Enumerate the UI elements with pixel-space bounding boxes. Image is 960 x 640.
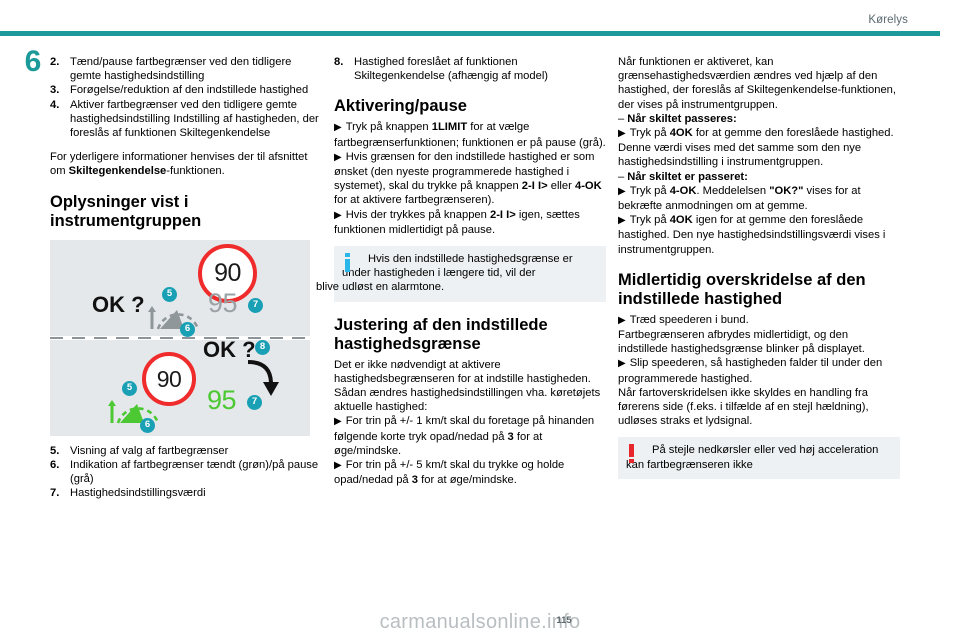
para-2-bold: 4OK [670, 127, 693, 139]
ok-prompt-bottom: OK ? [203, 343, 256, 357]
list-item-text: Indikation af fartbegrænser tændt (grøn)… [70, 459, 318, 485]
bullet-arrow-icon: ▶ [334, 460, 342, 471]
list-item-number: 7. [50, 486, 59, 500]
subheading-sign-passed: –Når skiltet er passeret: [618, 170, 900, 184]
paragraph-audible-signal: Når fartoverskridelsen ikke skyldes en h… [618, 386, 900, 429]
list-item-text: Forøgelse/reduktion af den indstillede h… [70, 84, 308, 96]
para-3-pre: Hvis der trykkes på knappen [346, 209, 490, 221]
reference-bold-term: Skiltegenkendelse [69, 165, 167, 177]
callout-5-bottom: 5 [122, 381, 137, 396]
list-item: 5. Visning af valg af fartbegrænser [50, 444, 322, 458]
para-4-bold: 4OK [670, 214, 693, 226]
callout-5-top: 5 [162, 287, 177, 302]
dash-marker: – [618, 113, 624, 125]
dash-marker: – [618, 171, 624, 183]
paragraph-activate: ▶Tryk på knappen 1LIMIT for at vælge far… [334, 120, 606, 149]
bullet-arrow-icon: ▶ [334, 122, 342, 133]
paragraph-confirm-ok: ▶Tryk på 4-OK. Meddelelsen "OK?" vises f… [618, 184, 900, 213]
paragraph-change-via-speed: Sådan ændres hastighedsindstillingen vha… [334, 386, 606, 414]
list-item-text: Tænd/pause fartbegrænser ved den tidlige… [70, 56, 291, 82]
paragraph-no-activation-needed: Det er ikke nødvendigt at aktivere hasti… [334, 358, 606, 386]
section-heading-temporary-override: Midlertidig overskridelse af den indstil… [618, 271, 900, 309]
subheading-text: Når skiltet passeres: [627, 113, 736, 125]
paragraph-release-accelerator: ▶Slip speederen, så hastigheden falder t… [618, 356, 900, 385]
para-2-bold-a: 2-I I> [522, 180, 548, 192]
new-set-speed-value-bottom: 95 [207, 393, 236, 407]
page-number: 115 [0, 615, 960, 626]
reference-line-1: For yderligere informationer henvises de… [50, 151, 265, 163]
bullet-arrow-icon: ▶ [618, 315, 626, 326]
section-heading-activation-pause: Aktivering/pause [334, 97, 606, 116]
callout-7-bottom: 7 [247, 395, 262, 410]
instrument-cluster-figure: 90 OK ? 95 5 6 7 90 OK ? 95 5 6 7 8 [50, 240, 310, 436]
para-4-pre: Tryk på [630, 214, 670, 226]
para-2-pre: Tryk på [630, 127, 670, 139]
bullet-arrow-icon: ▶ [618, 128, 626, 139]
callout-8-bottom: 8 [255, 340, 270, 355]
para-3-bold: 2-I I> [490, 209, 516, 221]
left-numbered-list: 2. Tænd/pause fartbegrænser ved den tidl… [50, 55, 322, 140]
list-item-text: Visning af valg af fartbegrænser [70, 445, 228, 457]
left-column: 2. Tænd/pause fartbegrænser ved den tidl… [50, 55, 322, 500]
page-header: Kørelys [0, 14, 960, 32]
list-item: 4. Aktiver fartbegrænser ved den tidlige… [50, 98, 322, 141]
warning-box: På stejle nedkørsler eller ved høj accel… [618, 437, 900, 478]
paragraph-limit-ok: ▶Hvis grænsen for den indstillede hastig… [334, 150, 606, 208]
list-item-number: 5. [50, 444, 59, 458]
bullet-arrow-icon: ▶ [334, 152, 342, 163]
paragraph-pause-again: ▶Hvis der trykkes på knappen 2-I I> igen… [334, 208, 606, 237]
para-6-pre: For trin på +/- 1 km/t skal du foretage … [334, 415, 594, 442]
section-heading-instrument-cluster: Oplysninger vist i instrumentgruppen [50, 193, 322, 231]
paragraph-press-ok-again: ▶Tryk på 4OK igen for at gemme den fores… [618, 213, 900, 257]
paragraph-limiter-interrupted: Fartbegrænseren afbrydes midlertidigt, o… [618, 328, 900, 356]
header-rule [0, 31, 940, 36]
callout-6-bottom: 6 [140, 418, 155, 433]
bullet-arrow-icon: ▶ [618, 215, 626, 226]
list-item: 6. Indikation af fartbegrænser tændt (gr… [50, 458, 322, 486]
list-item-number: 8. [334, 55, 343, 69]
list-item: 3. Forøgelse/reduktion af den indstilled… [50, 83, 322, 97]
list-item-text: Hastighedsindstillingsværdi [70, 487, 206, 499]
para-3-mid: . Meddelelsen [696, 185, 769, 197]
list-item-text: Aktiver fartbegrænser ved den tidligere … [70, 99, 319, 139]
section-heading-adjust-limit: Justering af den indstillede hastighedsg… [334, 316, 606, 354]
paragraph-step-5kmh: ▶For trin på +/- 5 km/t skal du trykke o… [334, 458, 606, 487]
para-7-post: for at øge/mindske. [418, 474, 517, 486]
set-speed-value-top: 95 [208, 296, 237, 310]
figure-divider [50, 337, 310, 339]
list-item-number: 3. [50, 83, 59, 97]
limiter-gauge-icon-bottom [106, 392, 168, 426]
info-box-text-runon: blive udløst en alarmtone. [316, 280, 598, 294]
list-item: 8. Hastighed foreslået af funktionen Ski… [334, 55, 606, 83]
info-box-text-indented: Hvis den indstillede hastighedsgrænse er… [342, 253, 573, 279]
subheading-text: Når skiltet er passeret: [627, 171, 748, 183]
bullet-arrow-icon: ▶ [618, 186, 626, 197]
callout-7-top: 7 [248, 298, 263, 313]
chapter-number: 6 [18, 45, 48, 79]
ok-prompt-top: OK ? [92, 298, 145, 312]
para-3-bold: 4-OK [670, 185, 697, 197]
middle-numbered-list: 8. Hastighed foreslået af funktionen Ski… [334, 55, 606, 83]
right-column: Når funktionen er aktiveret, kan grænseh… [618, 55, 900, 481]
warning-box-text: På stejle nedkørsler eller ved høj accel… [626, 444, 878, 470]
para-1-bold: 1LIMIT [432, 121, 467, 133]
para-2-post: for at aktivere fartbegrænseren). [334, 194, 494, 206]
reference-line-2c: -funktionen. [166, 165, 224, 177]
list-item-text: Hastighed foreslået af funktionen Skilte… [354, 56, 548, 82]
para-3-pre: Tryk på [630, 185, 670, 197]
para-5-text: Træd speederen i bund. [630, 314, 749, 326]
limiter-gauge-icon-top [146, 298, 208, 332]
paragraph-step-1kmh: ▶For trin på +/- 1 km/t skal du foretage… [334, 414, 606, 458]
middle-column: 8. Hastighed foreslået af funktionen Ski… [334, 55, 606, 487]
list-item-number: 2. [50, 55, 59, 69]
info-icon [343, 253, 351, 272]
list-item: 7. Hastighedsindstillingsværdi [50, 486, 322, 500]
callout-6-top: 6 [180, 322, 195, 337]
list-item-number: 6. [50, 458, 59, 472]
left-numbered-list-2: 5. Visning af valg af fartbegrænser 6. I… [50, 444, 322, 501]
header-title: Kørelys [868, 14, 908, 26]
reference-paragraph: For yderligere informationer henvises de… [50, 150, 322, 178]
bullet-arrow-icon: ▶ [334, 210, 342, 221]
para-2-bold-b: 4-OK [575, 180, 602, 192]
bullet-arrow-icon: ▶ [334, 416, 342, 427]
para-1-pre: Tryk på knappen [346, 121, 432, 133]
paragraph-floor-accelerator: ▶Træd speederen i bund. [618, 313, 900, 328]
info-box: Hvis den indstillede hastighedsgrænse er… [334, 246, 606, 302]
info-box-text: Hvis den indstillede hastighedsgrænse er… [342, 253, 598, 295]
paragraph-sign-recognition-intro: Når funktionen er aktiveret, kan grænseh… [618, 55, 900, 112]
subheading-sign-passing: –Når skiltet passeres: [618, 112, 900, 126]
warning-icon [627, 444, 635, 463]
list-item: 2. Tænd/pause fartbegrænser ved den tidl… [50, 55, 322, 83]
confirm-arrow-icon [246, 358, 280, 398]
para-7-text: Slip speederen, så hastigheden falder ti… [618, 357, 882, 384]
para-2-mid: eller [548, 180, 575, 192]
paragraph-save-suggested-speed: ▶Tryk på 4OK for at gemme den foreslåede… [618, 126, 900, 170]
list-item-number: 4. [50, 98, 59, 112]
bullet-arrow-icon: ▶ [618, 358, 626, 369]
para-3-bold-b: "OK?" [769, 185, 803, 197]
